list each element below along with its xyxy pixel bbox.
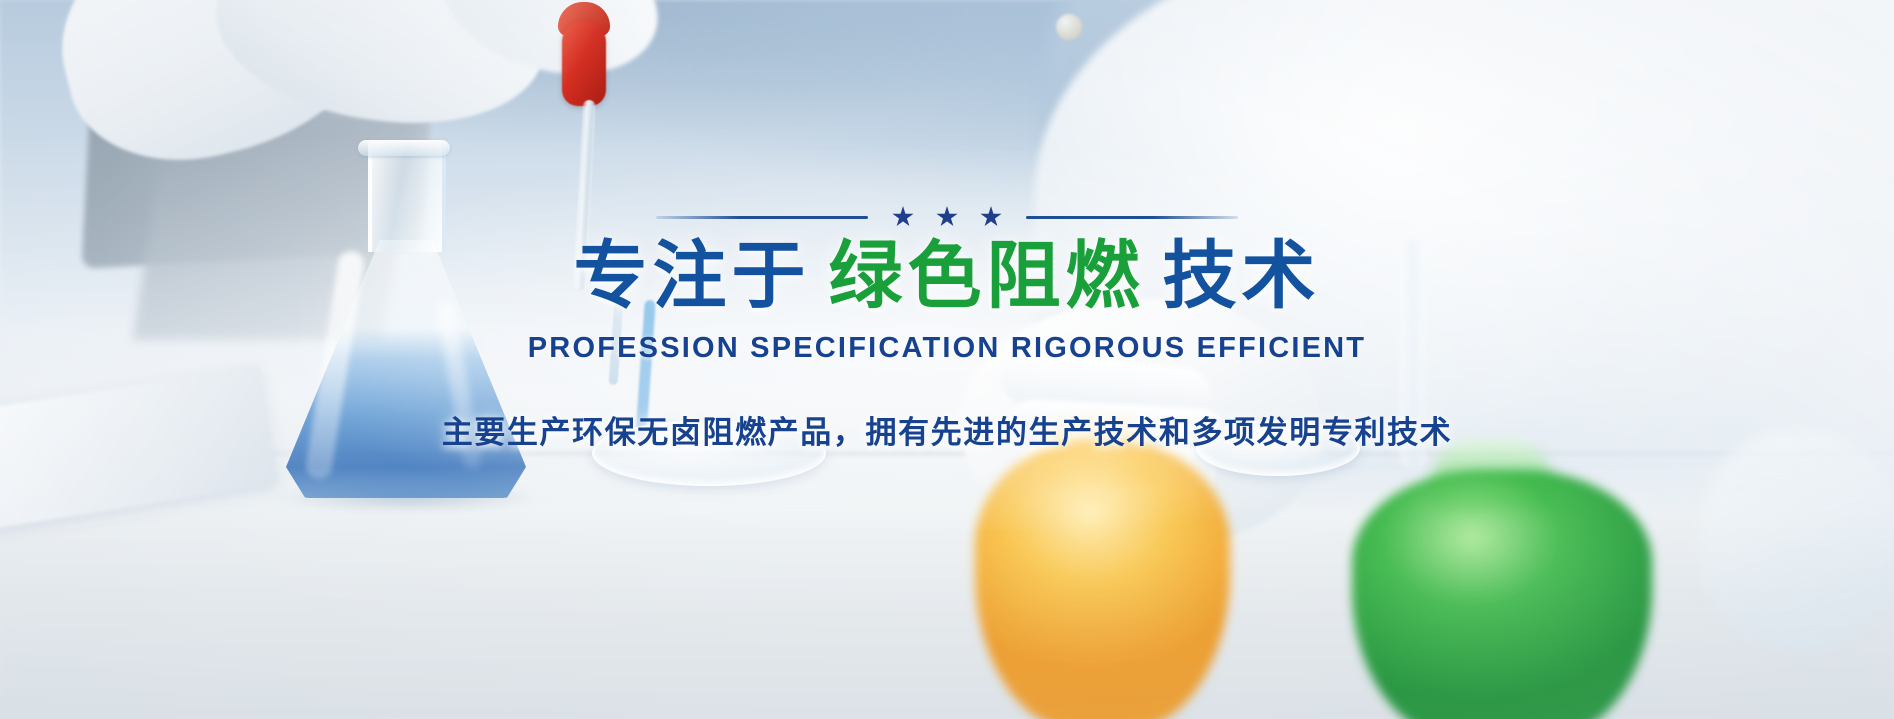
divider-rule-left [656, 216, 868, 219]
banner-tagline: 主要生产环保无卤阻燃产品，拥有先进的生产技术和多项发明专利技术 [442, 407, 1453, 452]
banner-subtitle-english: PROFESSION SPECIFICATION RIGOROUS EFFICI… [528, 332, 1366, 365]
decorative-divider [577, 206, 1317, 228]
star-group [868, 206, 1026, 228]
star-icon [980, 206, 1002, 228]
divider-rule-right [1026, 216, 1238, 219]
headline-part-1: 专注于 [574, 234, 811, 317]
headline-part-2: 绿色阻燃 [829, 234, 1145, 317]
star-icon [892, 206, 914, 228]
banner-text-overlay: 专注于绿色阻燃技术 PROFESSION SPECIFICATION RIGOR… [0, 0, 1894, 719]
hero-banner: 专注于绿色阻燃技术 PROFESSION SPECIFICATION RIGOR… [0, 0, 1894, 719]
headline-part-3: 技术 [1163, 234, 1321, 317]
banner-headline: 专注于绿色阻燃技术 [574, 236, 1321, 316]
star-icon [936, 206, 958, 228]
